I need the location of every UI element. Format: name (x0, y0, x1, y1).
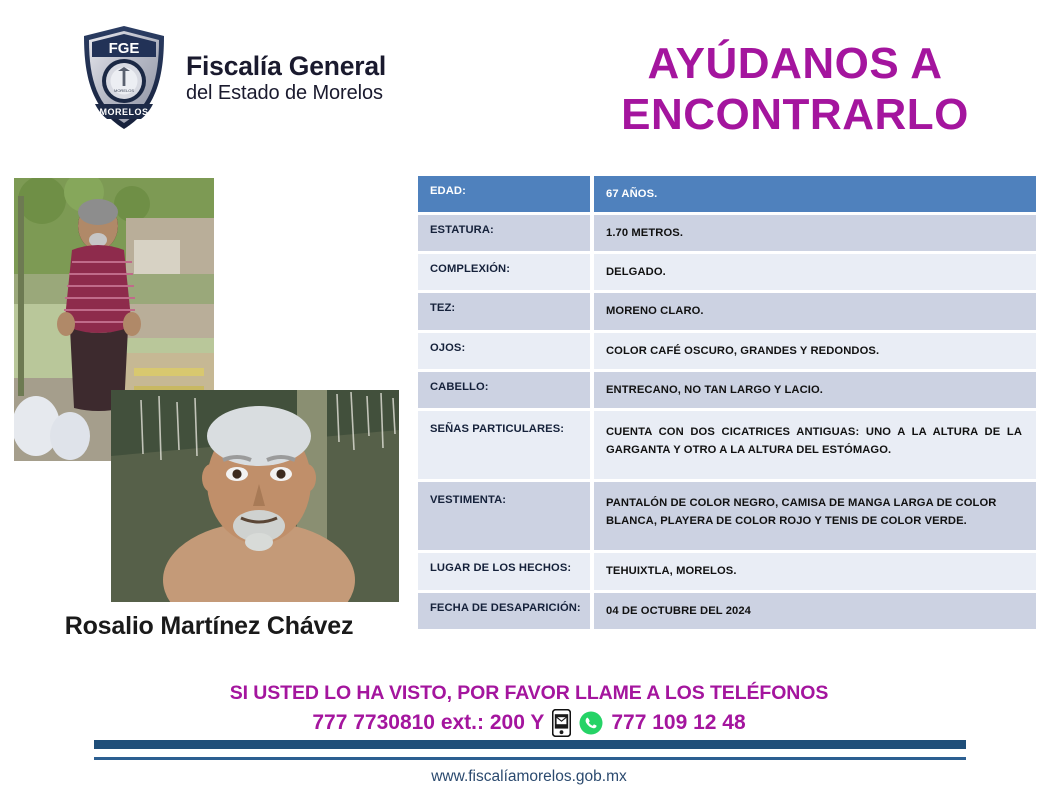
table-row: CABELLO: ENTRECANO, NO TAN LARGO Y LACIO… (418, 372, 1036, 408)
row-value: ENTRECANO, NO TAN LARGO Y LACIO. (594, 372, 1036, 408)
org-line-1: Fiscalía General (186, 52, 386, 82)
svg-text:MORELOS: MORELOS (114, 88, 134, 93)
website-url[interactable]: www.fiscalíamorelos.gob.mx (0, 768, 1058, 786)
row-label: FECHA DE DESAPARICIÓN: (418, 593, 590, 629)
row-value: DELGADO. (594, 254, 1036, 290)
row-label: LUGAR DE LOS HECHOS: (418, 553, 590, 589)
row-label: COMPLEXIÓN: (418, 254, 590, 290)
table-row: ESTATURA: 1.70 METROS. (418, 215, 1036, 251)
row-label: VESTIMENTA: (418, 482, 590, 550)
fge-shield-icon: FGE MORELOS MORELOS (78, 24, 170, 132)
row-value: PANTALÓN DE COLOR NEGRO, CAMISA DE MANGA… (594, 482, 1036, 550)
table-row: VESTIMENTA: PANTALÓN DE COLOR NEGRO, CAM… (418, 482, 1036, 550)
contact-phones: 777 7730810 ext.: 200 Y 777 109 12 48 (0, 709, 1058, 737)
page-title: AYÚDANOS A ENCONTRARLO (545, 38, 1045, 140)
contact-section: SI USTED LO HA VISTO, POR FAVOR LLAME A … (0, 682, 1058, 737)
table-row: COMPLEXIÓN: DELGADO. (418, 254, 1036, 290)
table-row: TEZ: MORENO CLARO. (418, 293, 1036, 329)
row-label: TEZ: (418, 293, 590, 329)
table-row: LUGAR DE LOS HECHOS: TEHUIXTLA, MORELOS. (418, 553, 1036, 589)
photo-portrait (111, 390, 399, 602)
photo-gallery (0, 170, 410, 610)
row-label: ESTATURA: (418, 215, 590, 251)
person-details-table: EDAD: 67 AÑOS. ESTATURA: 1.70 METROS. CO… (418, 176, 1036, 632)
svg-text:MORELOS: MORELOS (99, 107, 148, 117)
poster-header: FGE MORELOS MORELOS Fiscalía General del… (0, 0, 1058, 160)
contact-instruction: SI USTED LO HA VISTO, POR FAVOR LLAME A … (0, 682, 1058, 705)
person-name: Rosalio Martínez Chávez (0, 612, 418, 641)
table-row: EDAD: 67 AÑOS. (418, 176, 1036, 212)
phone-number-primary[interactable]: 777 7730810 ext.: 200 Y (312, 711, 544, 735)
footer-bar-thick (94, 740, 966, 749)
row-label: EDAD: (418, 176, 590, 212)
row-value: 1.70 METROS. (594, 215, 1036, 251)
row-value: CUENTA CON DOS CICATRICES ANTIGUAS: UNO … (594, 411, 1036, 479)
row-label: CABELLO: (418, 372, 590, 408)
row-value: MORENO CLARO. (594, 293, 1036, 329)
row-label: SEÑAS PARTICULARES: (418, 411, 590, 479)
table-row: FECHA DE DESAPARICIÓN: 04 DE OCTUBRE DEL… (418, 593, 1036, 629)
row-value: TEHUIXTLA, MORELOS. (594, 553, 1036, 589)
sms-phone-icon (552, 709, 571, 737)
row-value: 04 DE OCTUBRE DEL 2024 (594, 593, 1036, 629)
row-value: 67 AÑOS. (594, 176, 1036, 212)
organization-name: Fiscalía General del Estado de Morelos (186, 52, 386, 104)
table-row: SEÑAS PARTICULARES: CUENTA CON DOS CICAT… (418, 411, 1036, 479)
whatsapp-icon (579, 711, 603, 735)
row-value: COLOR CAFÉ OSCURO, GRANDES Y REDONDOS. (594, 333, 1036, 369)
svg-text:FGE: FGE (109, 40, 140, 57)
phone-number-whatsapp[interactable]: 777 109 12 48 (611, 711, 745, 735)
footer-bar-thin (94, 757, 966, 760)
row-label: OJOS: (418, 333, 590, 369)
fge-logo-block: FGE MORELOS MORELOS Fiscalía General del… (78, 24, 386, 132)
org-line-2: del Estado de Morelos (186, 82, 386, 104)
table-row: OJOS: COLOR CAFÉ OSCURO, GRANDES Y REDON… (418, 333, 1036, 369)
